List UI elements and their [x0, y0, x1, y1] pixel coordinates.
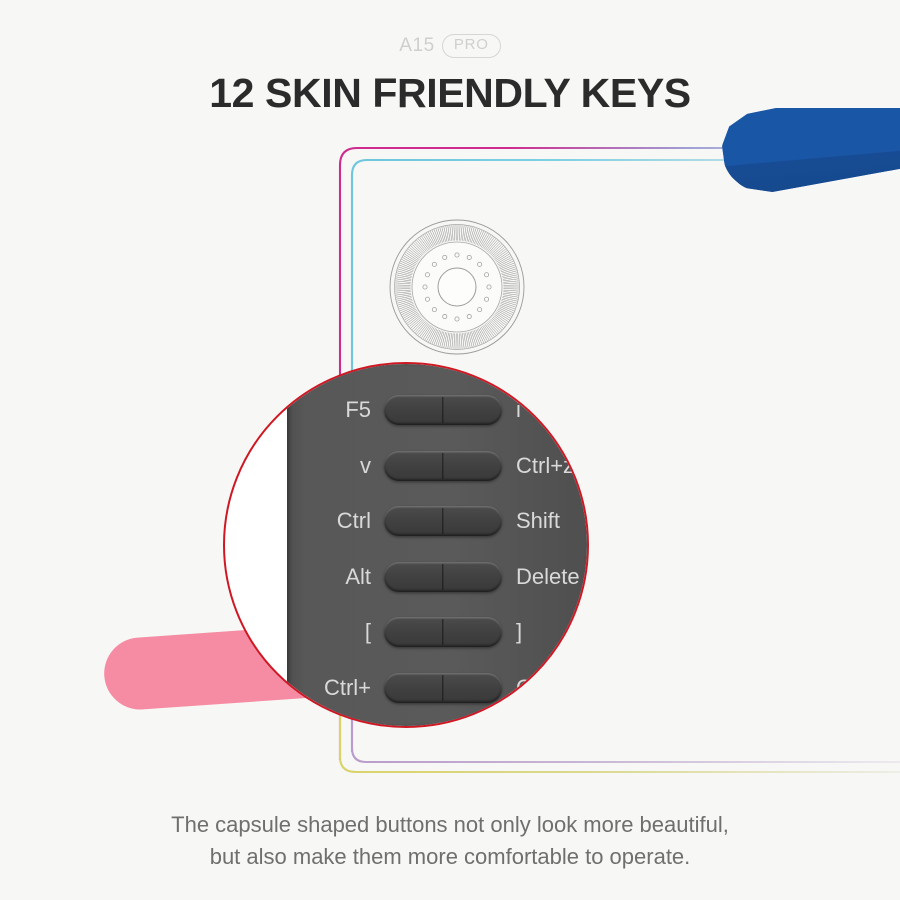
capsule-key[interactable] — [384, 617, 502, 647]
page-title: 12 SKIN FRIENDLY KEYS — [0, 70, 900, 117]
key-label-left: v — [287, 453, 384, 479]
key-row: v Ctrl+z — [287, 448, 587, 484]
key-row: Alt Delete — [287, 559, 587, 595]
key-label-right: Shift — [502, 508, 560, 534]
key-label-right: ] — [502, 619, 522, 645]
capsule-divider — [442, 397, 443, 423]
capsule-key[interactable] — [384, 506, 502, 536]
key-label-right: Ctrl- — [502, 675, 558, 701]
capsule-key[interactable] — [384, 451, 502, 481]
capsule-key[interactable] — [384, 673, 502, 703]
capsule-divider — [442, 508, 443, 534]
key-label-right: Ctrl+z — [502, 453, 574, 479]
key-row: Ctrl Shift — [287, 503, 587, 539]
scroll-dial-icon — [389, 219, 525, 355]
key-row: F5 i — [287, 392, 587, 428]
brand-logo: A15 PRO — [0, 34, 900, 58]
caption-line-2: but also make them more comfortable to o… — [0, 841, 900, 874]
brand-name: A15 — [399, 35, 435, 57]
caption: The capsule shaped buttons not only look… — [0, 809, 900, 874]
capsule-divider — [442, 564, 443, 590]
capsule-key[interactable] — [384, 395, 502, 425]
key-label-left: F5 — [287, 397, 384, 423]
key-row: [ ] — [287, 614, 587, 650]
capsule-key[interactable] — [384, 562, 502, 592]
poster-canvas: A15 PRO 12 SKIN FRIENDLY KEYS F5 i v — [0, 0, 900, 900]
capsule-divider — [442, 619, 443, 645]
caption-line-1: The capsule shaped buttons not only look… — [0, 809, 900, 842]
key-label-right: Delete — [502, 564, 580, 590]
key-label-right: i — [502, 397, 521, 423]
key-label-left: Ctrl — [287, 508, 384, 534]
keypad-rows: F5 i v Ctrl+z Ctrl Shift Alt — [287, 392, 587, 706]
key-label-left: [ — [287, 619, 384, 645]
pro-badge: PRO — [442, 34, 501, 58]
key-label-left: Ctrl+ — [287, 675, 384, 701]
capsule-divider — [442, 453, 443, 479]
keypad-panel: F5 i v Ctrl+z Ctrl Shift Alt — [287, 364, 587, 726]
key-label-left: Alt — [287, 564, 384, 590]
magnifier-circle: F5 i v Ctrl+z Ctrl Shift Alt — [223, 362, 589, 728]
capsule-divider — [442, 675, 443, 701]
key-row: Ctrl+ Ctrl- — [287, 670, 587, 706]
